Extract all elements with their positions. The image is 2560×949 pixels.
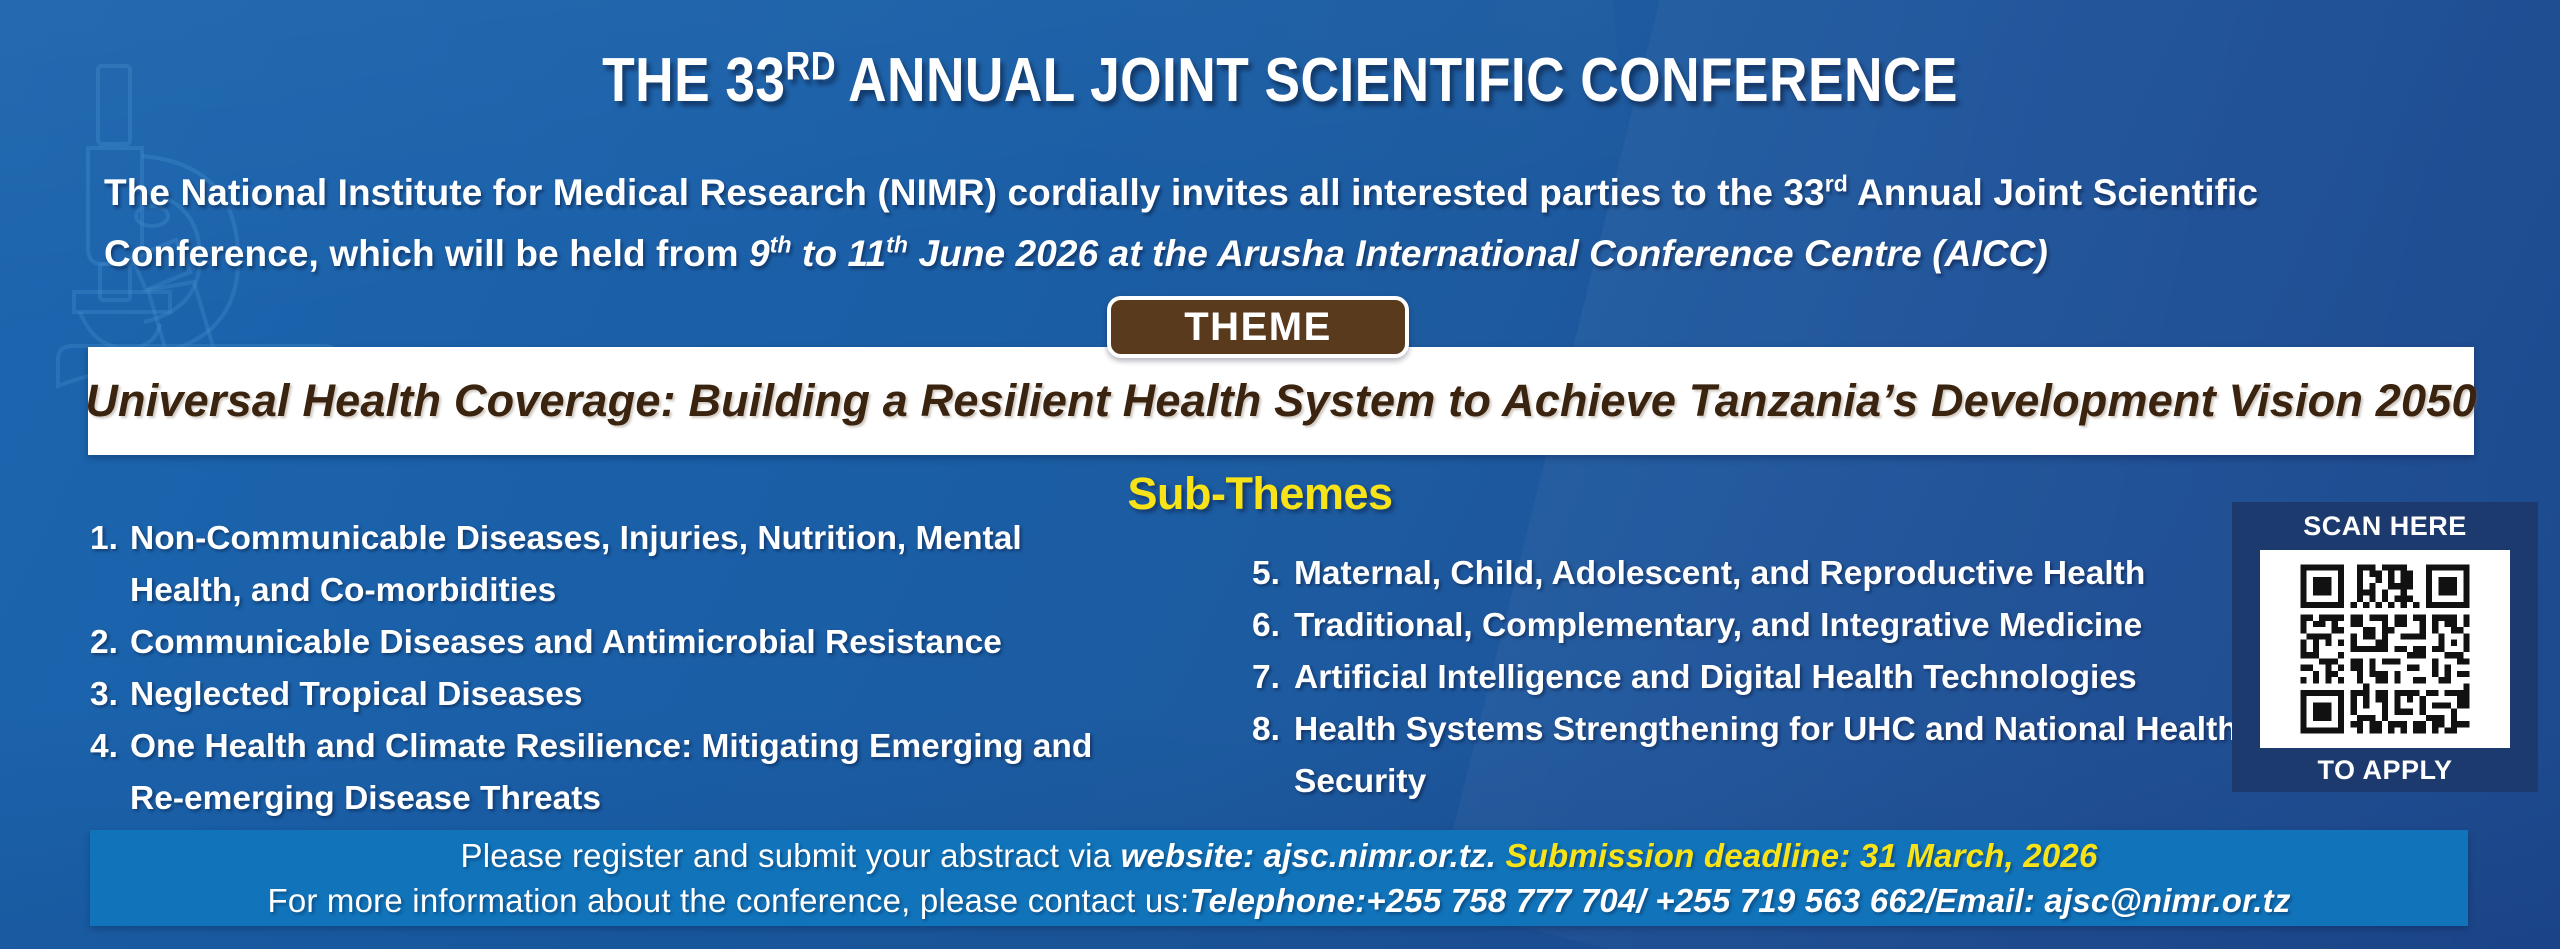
footer-contact-intro: For more information about the conferenc…	[267, 882, 1189, 919]
theme-badge: THEME	[1107, 296, 1409, 358]
intro-line1-a: The National Institute for Medical Resea…	[104, 172, 1825, 213]
list-item: 7. Artificial Intelligence and Digital H…	[1252, 652, 2252, 704]
subthemes-heading: Sub-Themes	[1060, 468, 1460, 520]
footer-deadline: Submission deadline: 31 March, 2026	[1496, 837, 2097, 874]
theme-badge-label: THEME	[1184, 305, 1332, 350]
list-item: 3. Neglected Tropical Diseases	[90, 669, 1110, 721]
list-item-label: Health Systems Strengthening for UHC and…	[1294, 704, 2252, 808]
intro-date-day1-superscript: th	[770, 232, 792, 258]
intro-venue: June 2026 at the Arusha International Co…	[908, 233, 2048, 274]
list-item-number: 5.	[1252, 548, 1294, 600]
list-item: 2. Communicable Diseases and Antimicrobi…	[90, 617, 1110, 669]
footer-website[interactable]: website: ajsc.nimr.or.tz.	[1121, 837, 1496, 874]
list-item-label: Traditional, Complementary, and Integrat…	[1294, 600, 2252, 652]
list-item-label: Non-Communicable Diseases, Injuries, Nut…	[130, 513, 1110, 617]
qr-scan-here-label: SCAN HERE	[2303, 511, 2467, 542]
subthemes-left-column: 1. Non-Communicable Diseases, Injuries, …	[90, 513, 1110, 825]
footer-line-2: For more information about the conferenc…	[267, 878, 2290, 923]
list-item: 1. Non-Communicable Diseases, Injuries, …	[90, 513, 1110, 617]
list-item: 5. Maternal, Child, Adolescent, and Repr…	[1252, 548, 2252, 600]
intro-paragraph: The National Institute for Medical Resea…	[104, 162, 2496, 284]
list-item-number: 4.	[90, 721, 130, 773]
subthemes-right-column: 5. Maternal, Child, Adolescent, and Repr…	[1252, 548, 2252, 808]
list-item-label: Neglected Tropical Diseases	[130, 669, 1110, 721]
list-item-number: 6.	[1252, 600, 1294, 652]
intro-date-day2-superscript: th	[886, 232, 908, 258]
intro-line-2: Conference, which will be held from 9th …	[104, 223, 2496, 284]
list-item-label: Maternal, Child, Adolescent, and Reprodu…	[1294, 548, 2252, 600]
intro-line1-b: Annual Joint Scientific	[1848, 172, 2258, 213]
intro-line1-superscript: rd	[1825, 171, 1848, 197]
theme-bar: Universal Health Coverage: Building a Re…	[88, 347, 2474, 455]
qr-code-container	[2260, 550, 2510, 748]
qr-to-apply-label: TO APPLY	[2317, 755, 2452, 786]
title-ordinal: RD	[786, 44, 837, 88]
footer-contact-bar: Please register and submit your abstract…	[90, 830, 2468, 926]
footer-register-text: Please register and submit your abstract…	[460, 837, 1120, 874]
intro-line2-a: Conference, which will be held from	[104, 233, 749, 274]
list-item: 6. Traditional, Complementary, and Integ…	[1252, 600, 2252, 652]
list-item-number: 7.	[1252, 652, 1294, 704]
list-item-label: Communicable Diseases and Antimicrobial …	[130, 617, 1110, 669]
list-item-number: 2.	[90, 617, 130, 669]
footer-line-1: Please register and submit your abstract…	[460, 833, 2097, 878]
footer-contact-details[interactable]: Telephone:+255 758 777 704/ +255 719 563…	[1190, 882, 2291, 919]
list-item-label: Artificial Intelligence and Digital Heal…	[1294, 652, 2252, 704]
list-item-number: 8.	[1252, 704, 1294, 756]
qr-code-icon[interactable]	[2294, 558, 2476, 740]
theme-statement: Universal Health Coverage: Building a Re…	[85, 375, 2476, 427]
intro-line-1: The National Institute for Medical Resea…	[104, 162, 2496, 223]
intro-date-day1: 9	[749, 233, 770, 274]
list-item: 4. One Health and Climate Resilience: Mi…	[90, 721, 1110, 825]
list-item: 8. Health Systems Strengthening for UHC …	[1252, 704, 2252, 808]
qr-panel[interactable]: SCAN HERE	[2232, 502, 2538, 792]
list-item-label: One Health and Climate Resilience: Mitig…	[130, 721, 1110, 825]
title-prefix: THE 33	[602, 46, 785, 115]
page-title: THE 33RDANNUAL JOINT SCIENTIFIC CONFEREN…	[179, 50, 2381, 112]
title-suffix: ANNUAL JOINT SCIENTIFIC CONFERENCE	[848, 46, 1958, 115]
intro-date-mid: to 11	[792, 233, 887, 274]
conference-poster: THE 33RDANNUAL JOINT SCIENTIFIC CONFEREN…	[0, 0, 2560, 949]
list-item-number: 3.	[90, 669, 130, 721]
list-item-number: 1.	[90, 513, 130, 565]
